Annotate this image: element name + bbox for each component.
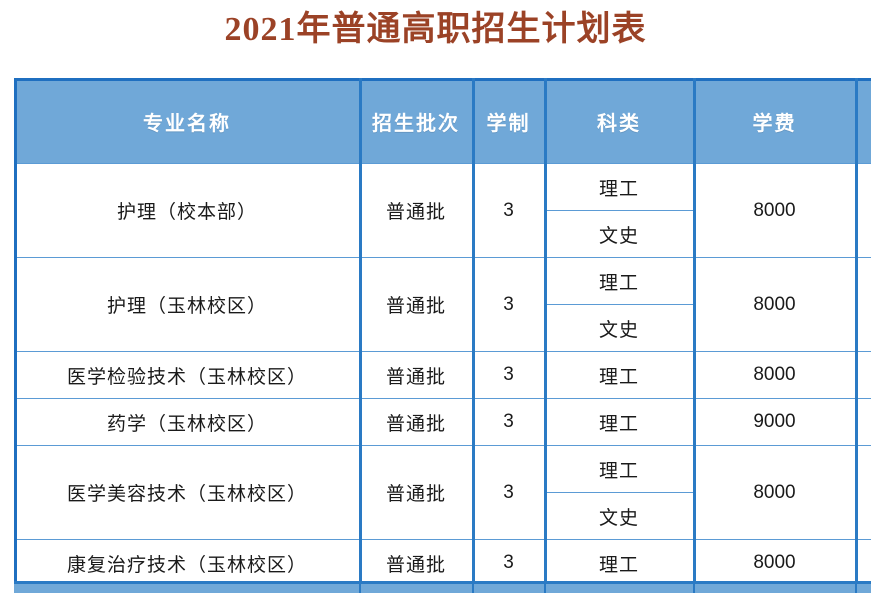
band-separator-2 <box>472 584 474 593</box>
cell-fee: 8000 <box>694 164 856 258</box>
cell-category: 文史 <box>545 305 694 352</box>
table-row: 康复治疗技术（玉林校区）普通批3理工8000 <box>15 540 871 587</box>
cell-years: 3 <box>473 540 545 587</box>
next-section-band <box>14 581 871 593</box>
cell-fee: 8000 <box>694 352 856 399</box>
cell-fee: 8000 <box>694 258 856 352</box>
cell-category: 理工 <box>545 164 694 211</box>
band-separator-3 <box>544 584 546 593</box>
cell-batch: 普通批 <box>360 446 473 540</box>
column-header-years: 学制 <box>473 79 545 164</box>
cell-years: 3 <box>473 399 545 446</box>
table-body: 护理（校本部）普通批3理工8000文史护理（玉林校区）普通批3理工8000文史医… <box>15 164 871 587</box>
cell-major: 护理（玉林校区） <box>15 258 360 352</box>
column-header-category: 科类 <box>545 79 694 164</box>
band-separator-4 <box>693 584 695 593</box>
cell-years: 3 <box>473 446 545 540</box>
admission-plan-table-container: 专业名称 招生批次 学制 科类 学费 护理（校本部）普通批3理工8000文史护理… <box>14 78 871 587</box>
table-row: 药学（玉林校区）普通批3理工9000 <box>15 399 871 446</box>
cell-extra <box>856 540 871 587</box>
cell-major: 医学检验技术（玉林校区） <box>15 352 360 399</box>
table-row: 医学检验技术（玉林校区）普通批3理工8000 <box>15 352 871 399</box>
table-header: 专业名称 招生批次 学制 科类 学费 <box>15 79 871 164</box>
cell-major: 医学美容技术（玉林校区） <box>15 446 360 540</box>
band-separator-1 <box>359 584 361 593</box>
cell-category: 理工 <box>545 352 694 399</box>
band-separator-5 <box>855 584 857 593</box>
page-title: 2021年普通高职招生计划表 <box>225 8 647 52</box>
table-row: 医学美容技术（玉林校区）普通批3理工8000 <box>15 446 871 493</box>
column-header-batch: 招生批次 <box>360 79 473 164</box>
column-header-fee: 学费 <box>694 79 856 164</box>
cell-years: 3 <box>473 164 545 258</box>
cell-category: 理工 <box>545 258 694 305</box>
cell-years: 3 <box>473 258 545 352</box>
cell-batch: 普通批 <box>360 258 473 352</box>
cell-category: 文史 <box>545 211 694 258</box>
page-title-container: 2021年普通高职招生计划表 <box>0 8 871 52</box>
table-header-row: 专业名称 招生批次 学制 科类 学费 <box>15 79 871 164</box>
column-header-major: 专业名称 <box>15 79 360 164</box>
cell-category: 理工 <box>545 399 694 446</box>
admission-plan-table: 专业名称 招生批次 学制 科类 学费 护理（校本部）普通批3理工8000文史护理… <box>14 78 871 587</box>
cell-extra <box>856 352 871 399</box>
cell-fee: 9000 <box>694 399 856 446</box>
cell-fee: 8000 <box>694 446 856 540</box>
cell-major: 药学（玉林校区） <box>15 399 360 446</box>
column-header-extra <box>856 79 871 164</box>
cell-category: 理工 <box>545 446 694 493</box>
cell-fee: 8000 <box>694 540 856 587</box>
cell-batch: 普通批 <box>360 399 473 446</box>
cell-major: 护理（校本部） <box>15 164 360 258</box>
cell-years: 3 <box>473 352 545 399</box>
cell-extra <box>856 446 871 540</box>
table-row: 护理（校本部）普通批3理工8000 <box>15 164 871 211</box>
cell-extra <box>856 399 871 446</box>
cell-major: 康复治疗技术（玉林校区） <box>15 540 360 587</box>
table-row: 护理（玉林校区）普通批3理工8000 <box>15 258 871 305</box>
cell-extra <box>856 258 871 352</box>
plan-table-page: 2021年普通高职招生计划表 专业名称 招生批次 学制 科类 学费 护理（校本部… <box>0 0 871 593</box>
cell-category: 理工 <box>545 540 694 587</box>
cell-category: 文史 <box>545 493 694 540</box>
cell-batch: 普通批 <box>360 164 473 258</box>
cell-extra <box>856 164 871 258</box>
cell-batch: 普通批 <box>360 540 473 587</box>
cell-batch: 普通批 <box>360 352 473 399</box>
